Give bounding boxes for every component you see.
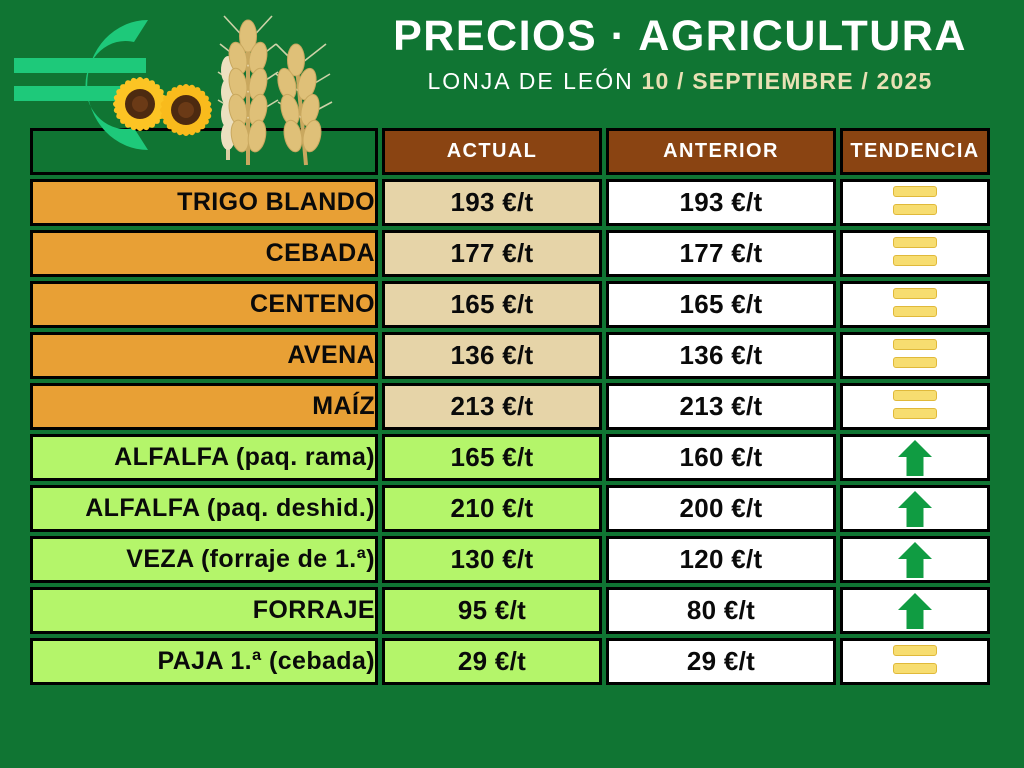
page-header: PRECIOS · AGRICULTURA LONJA DE LEÓN 10 /… [360,14,1000,95]
table-row: MAÍZ213 €/t213 €/t [30,383,990,430]
product-name-cell: PAJA 1.ª (cebada) [30,638,378,685]
price-anterior-cell: 160 €/t [606,434,836,481]
trend-equal-icon [893,237,937,266]
page-subtitle: LONJA DE LEÓN 10 / SEPTIEMBRE / 2025 [360,68,1000,95]
price-actual-cell: 193 €/t [382,179,602,226]
price-actual-cell: 177 €/t [382,230,602,277]
table-row: CEBADA177 €/t177 €/t [30,230,990,277]
trend-cell [840,281,990,328]
trend-cell [840,230,990,277]
table-row: AVENA136 €/t136 €/t [30,332,990,379]
table-row: TRIGO BLANDO193 €/t193 €/t [30,179,990,226]
trend-equal-icon [893,288,937,317]
price-actual-cell: 165 €/t [382,281,602,328]
price-actual-cell: 130 €/t [382,536,602,583]
trend-cell [840,332,990,379]
price-anterior-cell: 200 €/t [606,485,836,532]
product-name-cell: MAÍZ [30,383,378,430]
trend-cell [840,638,990,685]
table-row: VEZA (forraje de 1.ª)130 €/t120 €/t [30,536,990,583]
market-name: LONJA DE LEÓN [428,68,634,94]
trend-up-icon [895,591,935,631]
price-actual-cell: 165 €/t [382,434,602,481]
column-header-anterior: ANTERIOR [606,128,836,175]
trend-up-icon [895,489,935,529]
trend-equal-icon [893,645,937,674]
product-name-cell: TRIGO BLANDO [30,179,378,226]
trend-cell [840,383,990,430]
table-row: ALFALFA (paq. deshid.)210 €/t200 €/t [30,485,990,532]
trend-equal-icon [893,390,937,419]
product-name-cell: FORRAJE [30,587,378,634]
trend-equal-icon [893,186,937,215]
price-actual-cell: 210 €/t [382,485,602,532]
trend-equal-icon [893,339,937,368]
price-anterior-cell: 136 €/t [606,332,836,379]
table-row: PAJA 1.ª (cebada)29 €/t29 €/t [30,638,990,685]
product-name-cell: ALFALFA (paq. deshid.) [30,485,378,532]
product-name-cell: CENTENO [30,281,378,328]
prices-table: ACTUAL ANTERIOR TENDENCIA TRIGO BLANDO19… [26,124,994,689]
price-anterior-cell: 80 €/t [606,587,836,634]
report-date: 10 / SEPTIEMBRE / 2025 [641,68,932,94]
price-actual-cell: 95 €/t [382,587,602,634]
trend-up-icon [895,540,935,580]
price-anterior-cell: 213 €/t [606,383,836,430]
product-name-cell: VEZA (forraje de 1.ª) [30,536,378,583]
price-anterior-cell: 29 €/t [606,638,836,685]
trend-cell [840,485,990,532]
trend-cell [840,536,990,583]
price-anterior-cell: 120 €/t [606,536,836,583]
trend-cell [840,434,990,481]
trend-cell [840,587,990,634]
price-anterior-cell: 193 €/t [606,179,836,226]
table-header-row: ACTUAL ANTERIOR TENDENCIA [30,128,990,175]
trend-up-icon [895,438,935,478]
product-name-cell: AVENA [30,332,378,379]
price-actual-cell: 213 €/t [382,383,602,430]
table-row: FORRAJE95 €/t80 €/t [30,587,990,634]
table-body: TRIGO BLANDO193 €/t193 €/tCEBADA177 €/t1… [30,179,990,685]
trend-cell [840,179,990,226]
product-name-cell: CEBADA [30,230,378,277]
table-row: CENTENO165 €/t165 €/t [30,281,990,328]
price-anterior-cell: 177 €/t [606,230,836,277]
table-row: ALFALFA (paq. rama)165 €/t160 €/t [30,434,990,481]
price-anterior-cell: 165 €/t [606,281,836,328]
table-header: ACTUAL ANTERIOR TENDENCIA [30,128,990,175]
page-title: PRECIOS · AGRICULTURA [360,14,1000,59]
product-name-cell: ALFALFA (paq. rama) [30,434,378,481]
table-corner-cell [30,128,378,175]
price-actual-cell: 136 €/t [382,332,602,379]
price-actual-cell: 29 €/t [382,638,602,685]
column-header-tendencia: TENDENCIA [840,128,990,175]
column-header-actual: ACTUAL [382,128,602,175]
